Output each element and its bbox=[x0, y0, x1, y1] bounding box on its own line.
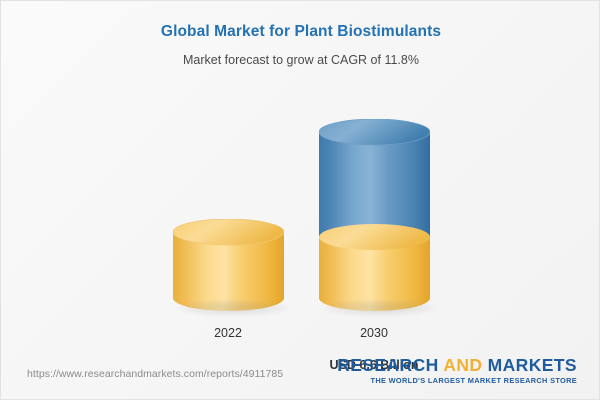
brand-wordmark: RESEARCH AND MARKETS bbox=[337, 356, 577, 374]
bar-category-label-2022: 2022 bbox=[148, 326, 308, 340]
cylinder-2030-svg bbox=[319, 119, 430, 311]
brand-logo[interactable]: RESEARCH AND MARKETS THE WORLD'S LARGEST… bbox=[337, 356, 577, 385]
brand-word-research: RESEARCH bbox=[337, 355, 443, 375]
bar-shadow-2030 bbox=[323, 300, 435, 316]
chart-plot-area: USD 2.7 Billion bbox=[1, 81, 600, 346]
chart-subtitle: Market forecast to grow at CAGR of 11.8% bbox=[1, 53, 600, 67]
infographic-card: Global Market for Plant Biostimulants Ma… bbox=[0, 0, 600, 400]
bar-cylinder-2030[interactable] bbox=[319, 119, 430, 311]
brand-word-markets: MARKETS bbox=[482, 355, 577, 375]
bar-cylinder-2022[interactable] bbox=[173, 219, 284, 311]
chart-title: Global Market for Plant Biostimulants bbox=[1, 23, 600, 41]
source-url[interactable]: https://www.researchandmarkets.com/repor… bbox=[27, 368, 283, 380]
brand-tagline: THE WORLD'S LARGEST MARKET RESEARCH STOR… bbox=[337, 376, 577, 385]
bar-shadow-2022 bbox=[177, 300, 289, 316]
cylinder-2022-svg bbox=[173, 219, 284, 311]
brand-word-and: AND bbox=[443, 355, 482, 375]
bar-category-label-2030: 2030 bbox=[294, 326, 454, 340]
